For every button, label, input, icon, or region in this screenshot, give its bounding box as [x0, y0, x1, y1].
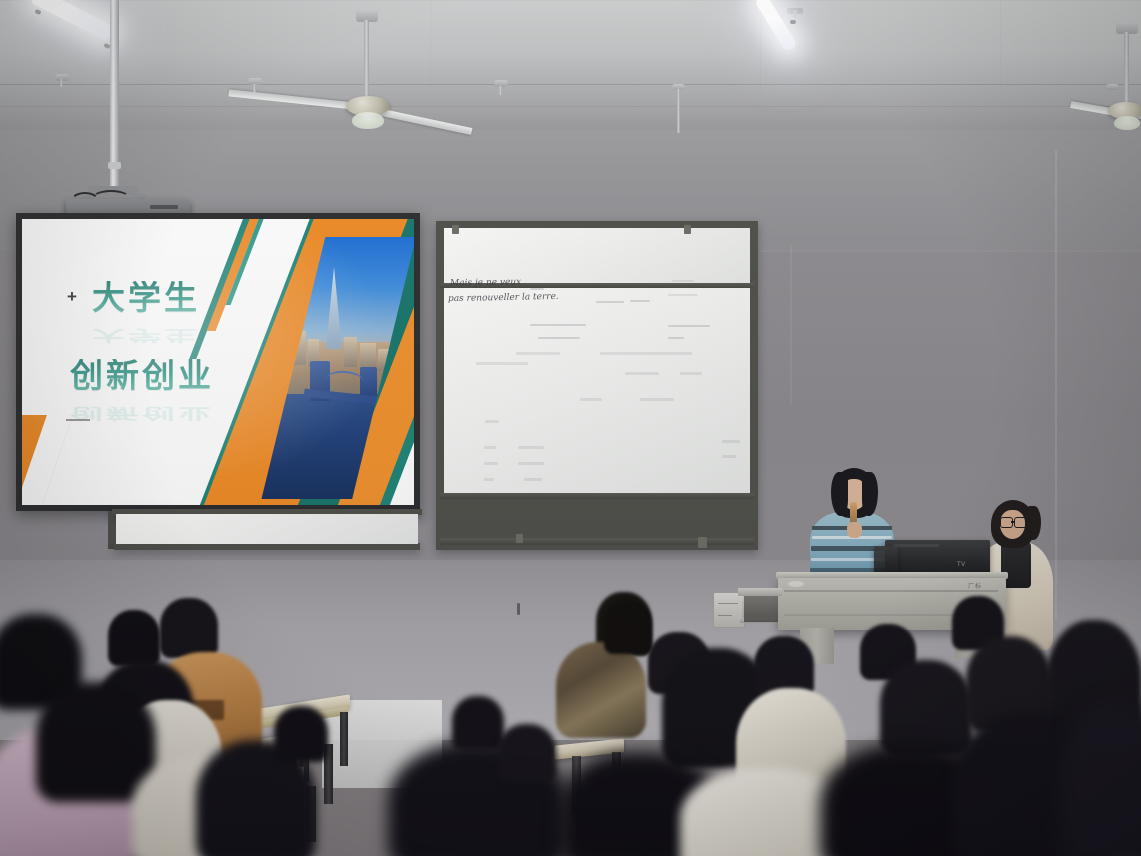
student-head-b	[498, 724, 556, 782]
student-head-a	[452, 696, 504, 750]
presenter-left-hand	[847, 522, 862, 538]
classroom-photo: + 大学生 大学生 创新创业 创新创业 Mais je ne veux pas …	[0, 0, 1141, 856]
slide-title-line2-reflection: 创新创业	[42, 404, 242, 426]
whiteboard-handwriting-line1: Mais je ne veux	[450, 277, 521, 288]
presentation-slide: + 大学生 大学生 创新创业 创新创业	[22, 219, 414, 505]
student-head-c	[274, 706, 328, 762]
podium-badge: 厂标	[968, 581, 982, 590]
side-table-shelf	[744, 596, 778, 622]
student-left-2	[108, 610, 160, 666]
microphone-icon	[850, 502, 857, 524]
student-back-6	[880, 660, 972, 756]
projection-screen: + 大学生 大学生 创新创业 创新创业	[16, 213, 420, 511]
student-left-1	[160, 598, 218, 658]
student-camo-jacket	[556, 642, 646, 738]
wall-scuff	[517, 603, 520, 615]
slide-title-line1-reflection: 大学生	[58, 326, 234, 348]
whiteboard-left-bottom-rail	[114, 543, 420, 550]
slide-underline	[66, 419, 90, 421]
slide-title-line2: 创新创业	[42, 359, 242, 394]
whiteboard-left-panel	[116, 514, 418, 544]
monitor-logo: TV	[957, 562, 966, 568]
slide-title-line1: 大学生	[58, 281, 234, 316]
side-table-top	[738, 588, 782, 596]
ceiling	[0, 0, 1141, 132]
